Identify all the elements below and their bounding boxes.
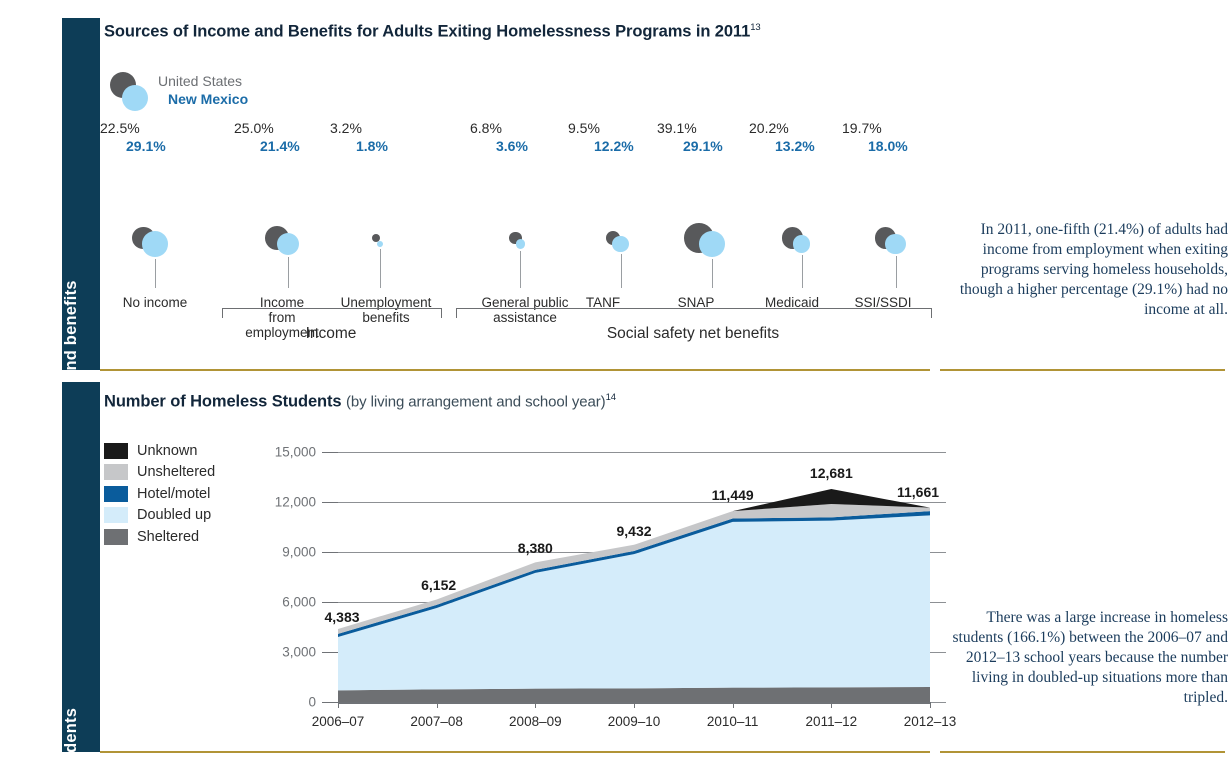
x-axis-tick-label: 2008–09 <box>509 714 562 729</box>
y-tick-mark <box>322 602 338 603</box>
bubble-leader-line <box>802 255 803 288</box>
x-axis-tick-label: 2009–10 <box>608 714 661 729</box>
x-tick-mark <box>930 702 931 708</box>
group-bracket-income <box>222 308 442 318</box>
y-tick-mark <box>322 652 338 653</box>
legend-swatch-icon <box>104 443 128 459</box>
bubble-value-us: 22.5% <box>100 120 140 136</box>
legend-circle-new-mexico-icon <box>122 85 148 111</box>
callout-income-and-benefits: In 2011, one-fifth (21.4%) of adults had… <box>938 220 1228 320</box>
area-chart-legend: UnknownUnshelteredHotel/motelDoubled upS… <box>104 440 254 548</box>
infographic-page: Income and benefits Students Sources of … <box>0 0 1231 759</box>
bubble-nm-circle-icon <box>699 231 725 257</box>
legend-swatch-icon <box>104 507 128 523</box>
x-tick-mark <box>338 702 339 708</box>
bubble-leader-line <box>896 256 897 288</box>
bubble-value-us: 20.2% <box>749 120 789 136</box>
x-axis-tick-label: 2007–08 <box>410 714 463 729</box>
legend-label-new-mexico: New Mexico <box>168 91 248 107</box>
legend-item-doubled-up: Doubled up <box>104 505 254 527</box>
y-axis-tick-label: 9,000 <box>250 545 316 560</box>
x-axis-tick-label: 2010–11 <box>707 714 759 729</box>
students-panel-title-subtext: (by living arrangement and school year) <box>346 394 606 411</box>
students-panel-title: Number of Homeless Students (by living a… <box>104 392 616 412</box>
x-tick-mark <box>437 702 438 708</box>
homeless-students-stacked-area-chart: 03,0006,0009,00012,00015,0002006–072007–… <box>250 440 940 715</box>
y-tick-mark <box>322 452 338 453</box>
bubble-nm-circle-icon <box>516 239 525 248</box>
area-total-data-label: 11,449 <box>712 487 754 503</box>
bubble-nm-circle-icon <box>885 234 905 254</box>
y-tick-mark <box>322 502 338 503</box>
students-panel-title-text: Number of Homeless Students <box>104 393 342 411</box>
bubble-nm-circle-icon <box>377 241 383 247</box>
legend-item-unknown: Unknown <box>104 440 254 462</box>
area-total-data-label: 6,152 <box>421 577 456 593</box>
bubble-leader-line <box>380 249 381 288</box>
area-total-data-label: 9,432 <box>616 523 651 539</box>
bubble-value-nm: 1.8% <box>356 138 388 154</box>
bubble-value-us: 19.7% <box>842 120 882 136</box>
bubble-value-us: 39.1% <box>657 120 697 136</box>
legend-label: Unsheltered <box>137 464 215 480</box>
bubble-value-nm: 29.1% <box>683 138 723 154</box>
legend-item-sheltered: Sheltered <box>104 526 254 548</box>
bubble-value-us: 6.8% <box>470 120 502 136</box>
bubble-value-nm: 13.2% <box>775 138 815 154</box>
section-divider-rule-top <box>100 369 930 371</box>
group-bracket-social-safety-net <box>456 308 932 318</box>
bubble-value-nm: 21.4% <box>260 138 300 154</box>
bubble-nm-circle-icon <box>612 236 629 253</box>
area-total-data-label: 11,661 <box>897 484 939 500</box>
legend-swatch-icon <box>104 464 128 480</box>
sidebar-tab-students: Students <box>62 382 100 752</box>
x-axis-tick-label: 2006–07 <box>312 714 365 729</box>
sidebar-tab-students-label: Students <box>62 708 81 780</box>
y-axis-tick-label: 15,000 <box>250 445 316 460</box>
callout-homeless-students: There was a large increase in homeless s… <box>938 608 1228 708</box>
bubble-category-label: No income <box>100 295 210 310</box>
income-panel-title: Sources of Income and Benefits for Adult… <box>104 22 761 42</box>
students-panel-title-footnote: 14 <box>606 392 616 403</box>
y-axis-tick-label: 3,000 <box>250 645 316 660</box>
legend-label: Sheltered <box>137 529 199 545</box>
bubble-nm-circle-icon <box>793 235 810 252</box>
x-axis-tick-label: 2011–12 <box>806 714 858 729</box>
legend-item-unsheltered: Unsheltered <box>104 462 254 484</box>
group-label-social-safety-net: Social safety net benefits <box>456 325 930 343</box>
y-tick-mark <box>322 702 338 703</box>
income-panel-title-text: Sources of Income and Benefits for Adult… <box>104 23 750 41</box>
legend-label: Hotel/motel <box>137 486 210 502</box>
bubble-leader-line <box>712 259 713 288</box>
legend-label-united-states: United States <box>158 73 242 89</box>
x-tick-mark <box>634 702 635 708</box>
legend-label: Unknown <box>137 443 197 459</box>
y-axis-tick-label: 0 <box>250 695 316 710</box>
legend-swatch-icon <box>104 529 128 545</box>
callout-divider-rule-bottom <box>940 751 1225 753</box>
legend-item-hotel-motel: Hotel/motel <box>104 483 254 505</box>
y-tick-mark <box>322 552 338 553</box>
bubble-value-us: 3.2% <box>330 120 362 136</box>
y-axis-tick-label: 6,000 <box>250 595 316 610</box>
bubble-leader-line <box>155 259 156 288</box>
area-total-data-label: 12,681 <box>810 465 853 481</box>
area-total-data-label: 4,383 <box>324 609 359 625</box>
sidebar-tab-income-and-benefits: Income and benefits <box>62 18 100 370</box>
x-axis-tick-label: 2012–13 <box>904 714 957 729</box>
bubble-value-nm: 12.2% <box>594 138 634 154</box>
bubble-value-us: 9.5% <box>568 120 600 136</box>
section-divider-rule-bottom <box>100 751 930 753</box>
callout-divider-rule-top <box>940 369 1225 371</box>
x-tick-mark <box>733 702 734 708</box>
x-tick-mark <box>535 702 536 708</box>
income-panel-title-footnote: 13 <box>750 22 760 33</box>
bubble-chart-legend: United States New Mexico <box>110 72 340 112</box>
y-axis-tick-label: 12,000 <box>250 495 316 510</box>
area-total-data-label: 8,380 <box>518 540 553 556</box>
legend-label: Doubled up <box>137 507 211 523</box>
bubble-leader-line <box>520 251 521 288</box>
bubble-nm-circle-icon <box>142 231 168 257</box>
bubble-value-nm: 18.0% <box>868 138 908 154</box>
bubble-leader-line <box>621 254 622 288</box>
bubble-value-us: 25.0% <box>234 120 274 136</box>
bubble-leader-line <box>288 257 289 288</box>
bubble-value-nm: 3.6% <box>496 138 528 154</box>
bubble-value-nm: 29.1% <box>126 138 166 154</box>
x-tick-mark <box>831 702 832 708</box>
bubble-nm-circle-icon <box>277 233 299 255</box>
group-label-income: Income <box>222 325 440 343</box>
legend-swatch-icon <box>104 486 128 502</box>
